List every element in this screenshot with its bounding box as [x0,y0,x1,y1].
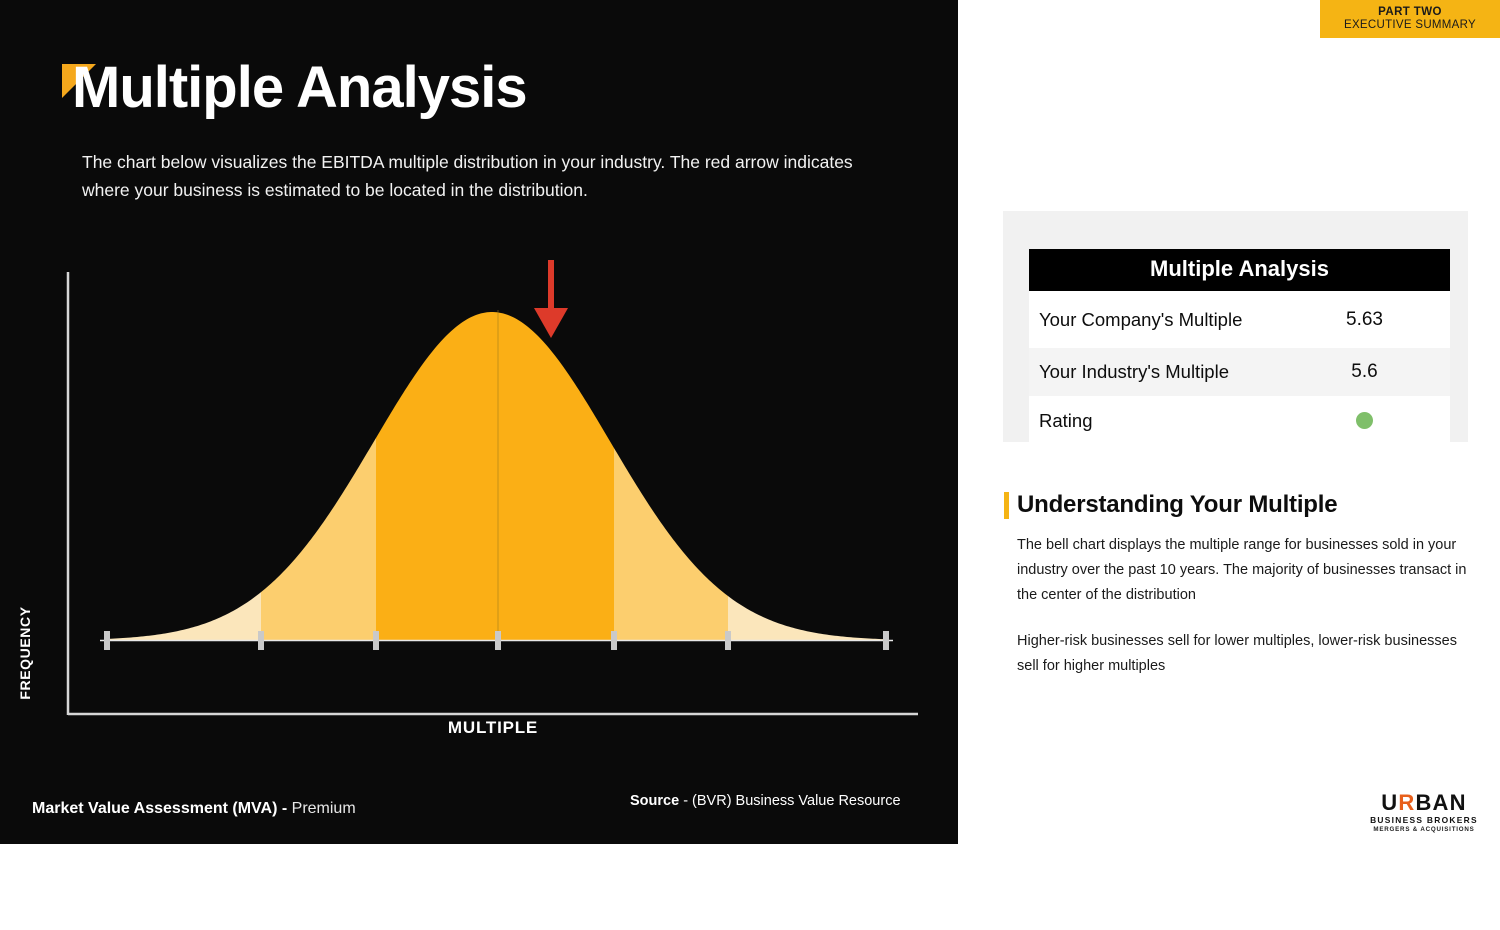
understanding-paragraph-2: Higher-risk businesses sell for lower mu… [1017,629,1472,679]
x-axis-label: MULTIPLE [68,718,918,738]
logo-wordmark: URBAN [1368,792,1480,814]
logo-tagline-2: MERGERS & ACQUISITIONS [1368,827,1480,833]
x-tick-label: 2.0 [77,907,137,930]
page-title: Multiple Analysis [72,58,922,119]
x-tick-label: 6.5 [856,907,916,930]
multiple-analysis-table: Multiple Analysis Your Company's Multipl… [1029,249,1450,446]
y-axis-label: FREQUENCY [17,588,33,718]
table-cell-label: Rating [1029,409,1301,433]
logo-tagline-1: BUSINESS BROKERS [1368,816,1480,824]
slide-subtitle: The chart below visualizes the EBITDA mu… [82,148,872,205]
slide-left-panel: Multiple Analysis The chart below visual… [0,0,958,844]
understanding-section: Understanding Your Multiple The bell cha… [1004,491,1484,679]
chart-svg [0,250,958,750]
title-block: Multiple Analysis [62,58,922,119]
footer-doc-bold: Market Value Assessment (MVA) - [32,800,287,817]
footer-doc-light: Premium [287,800,355,817]
table-cell-value [1301,410,1450,432]
table-row: Rating [1029,396,1450,446]
table-cell-value: 5.6 [1301,361,1450,383]
logo-letter-r: R [1398,790,1415,815]
x-tick-label: 3.5 [468,907,528,930]
understanding-accent-bar-icon [1004,492,1009,519]
x-tick-label: 2.5 [231,907,291,930]
bell-curve-chart: FREQUENCY 2.02.52.83.54.75.66.5 [0,250,958,750]
part-badge-line2: EXECUTIVE SUMMARY [1344,19,1476,32]
part-badge: PART TWO EXECUTIVE SUMMARY [1320,0,1500,38]
position-marker-arrow-icon [534,260,568,338]
logo-letters-ban: BAN [1415,790,1466,815]
footer-document-name: Market Value Assessment (MVA) - Premium [32,800,356,818]
table-cell-label: Your Industry's Multiple [1029,360,1301,384]
table-row: Your Industry's Multiple 5.6 [1029,348,1450,396]
footer-source: Source - (BVR) Business Value Resource [630,793,901,809]
table-row: Your Company's Multiple 5.63 [1029,291,1450,348]
rating-status-dot-icon [1356,412,1373,429]
x-tick-label: 2.8 [346,907,406,930]
company-logo: URBAN BUSINESS BROKERS MERGERS & ACQUISI… [1368,792,1480,834]
x-tick-label: 5.6 [698,907,758,930]
table-cell-value: 5.63 [1301,309,1450,331]
understanding-paragraph-1: The bell chart displays the multiple ran… [1017,533,1472,608]
part-badge-line1: PART TWO [1378,6,1442,19]
logo-letter-u: U [1381,790,1398,815]
slide-right-panel: PART TWO EXECUTIVE SUMMARY Multiple Anal… [958,0,1500,844]
table-title: Multiple Analysis [1029,249,1450,291]
understanding-heading-row: Understanding Your Multiple [1004,491,1484,519]
distribution-bands [107,250,886,650]
understanding-heading: Understanding Your Multiple [1017,491,1337,519]
table-cell-label: Your Company's Multiple [1029,308,1301,332]
x-tick-label: 4.7 [584,907,644,930]
multiple-analysis-table-card: Multiple Analysis Your Company's Multipl… [1003,211,1468,442]
footer-source-text: - (BVR) Business Value Resource [679,793,900,809]
footer-source-label: Source [630,793,679,809]
